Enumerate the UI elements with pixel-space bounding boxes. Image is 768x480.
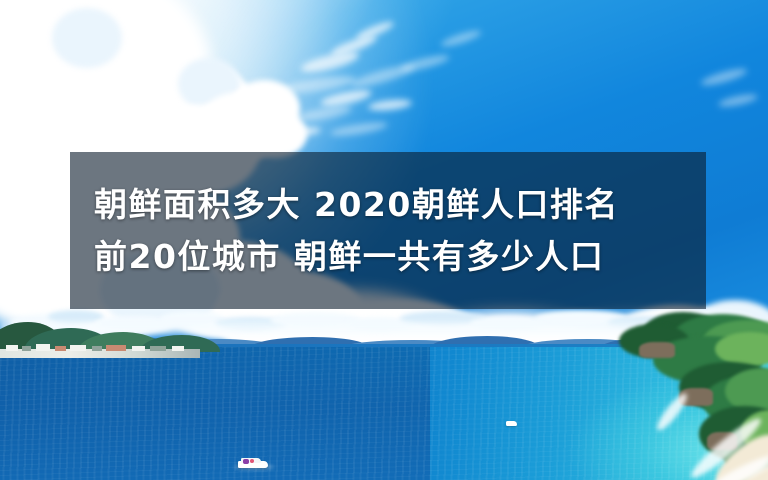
title-line-1: 朝鲜面积多大 2020朝鲜人口排名 [94,179,706,231]
motorboat [238,456,268,468]
green-headland [583,318,768,480]
banner-image: 朝鲜面积多大 2020朝鲜人口排名 前20位城市 朝鲜一共有多少人口 [0,0,768,480]
distant-boat [506,421,517,426]
boat-marker [250,459,254,463]
title-line-2: 前20位城市 朝鲜一共有多少人口 [94,231,706,283]
coastal-town [0,312,210,358]
title-block: 朝鲜面积多大 2020朝鲜人口排名 前20位城市 朝鲜一共有多少人口 [70,152,706,309]
boat-canopy [243,459,249,464]
